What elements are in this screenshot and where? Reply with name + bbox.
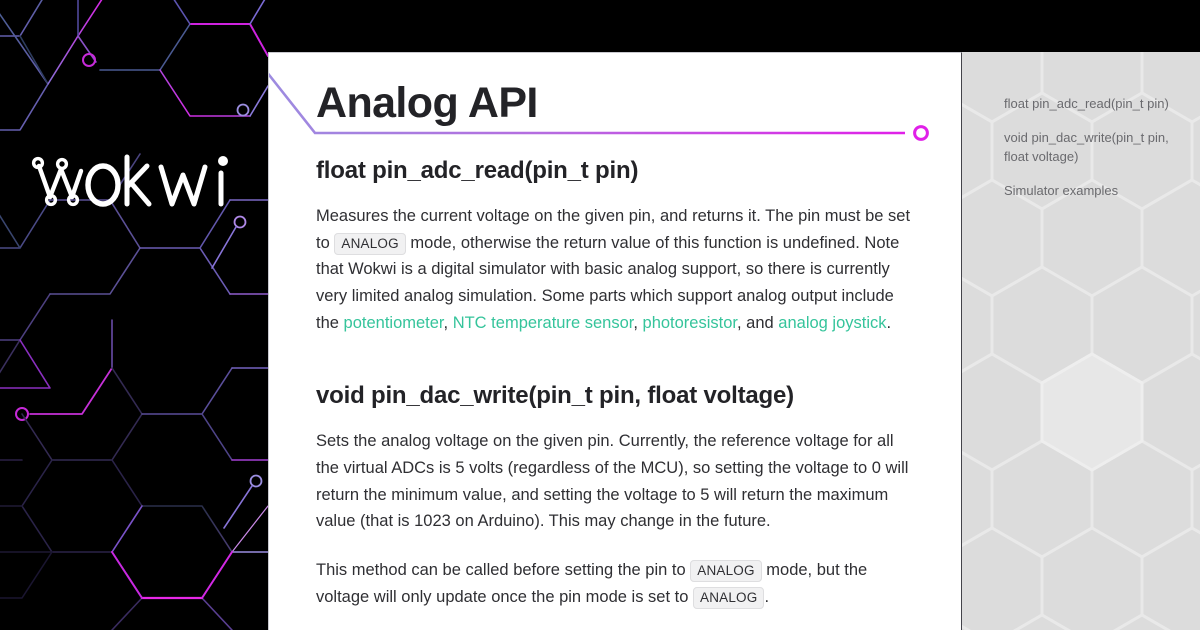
inline-link[interactable]: potentiometer	[344, 314, 444, 332]
page-root: Analog API float pin_adc_read(pin_t pin)…	[0, 0, 1200, 630]
toc-item-pin-adc-read[interactable]: float pin_adc_read(pin_t pin)	[1004, 95, 1188, 114]
inline-link[interactable]: analog joystick	[778, 314, 886, 332]
paragraph-pin-dac-write-1: Sets the analog voltage on the given pin…	[316, 428, 915, 535]
toc-list: float pin_adc_read(pin_t pin) void pin_d…	[962, 52, 1200, 200]
section-heading-pin-adc-read: float pin_adc_read(pin_t pin)	[316, 157, 915, 186]
main-content: Analog API float pin_adc_read(pin_t pin)…	[268, 52, 962, 630]
brand-panel	[0, 0, 268, 630]
inline-link[interactable]: photoresistor	[643, 314, 737, 332]
wokwi-wordmark-icon	[27, 149, 241, 211]
code-chip: ANALOG	[690, 560, 761, 582]
toc-sidebar: float pin_adc_read(pin_t pin) void pin_d…	[962, 52, 1200, 630]
section-heading-pin-dac-write: void pin_dac_write(pin_t pin, float volt…	[316, 382, 915, 411]
page-title: Analog API	[316, 53, 915, 125]
content-inner: Analog API float pin_adc_read(pin_t pin)…	[269, 53, 961, 611]
hexagon-circuit-pattern-icon	[0, 0, 268, 630]
paragraph-pin-adc-read: Measures the current voltage on the give…	[316, 203, 915, 337]
inline-link[interactable]: NTC temperature sensor	[453, 314, 634, 332]
wokwi-logo[interactable]	[0, 147, 268, 213]
toc-item-simulator-examples[interactable]: Simulator examples	[1004, 182, 1188, 201]
code-chip: ANALOG	[693, 587, 764, 609]
code-chip: ANALOG	[334, 233, 405, 255]
paragraph-pin-dac-write-2: This method can be called before setting…	[316, 557, 915, 610]
toc-item-pin-dac-write[interactable]: void pin_dac_write(pin_t pin, float volt…	[1004, 129, 1188, 167]
